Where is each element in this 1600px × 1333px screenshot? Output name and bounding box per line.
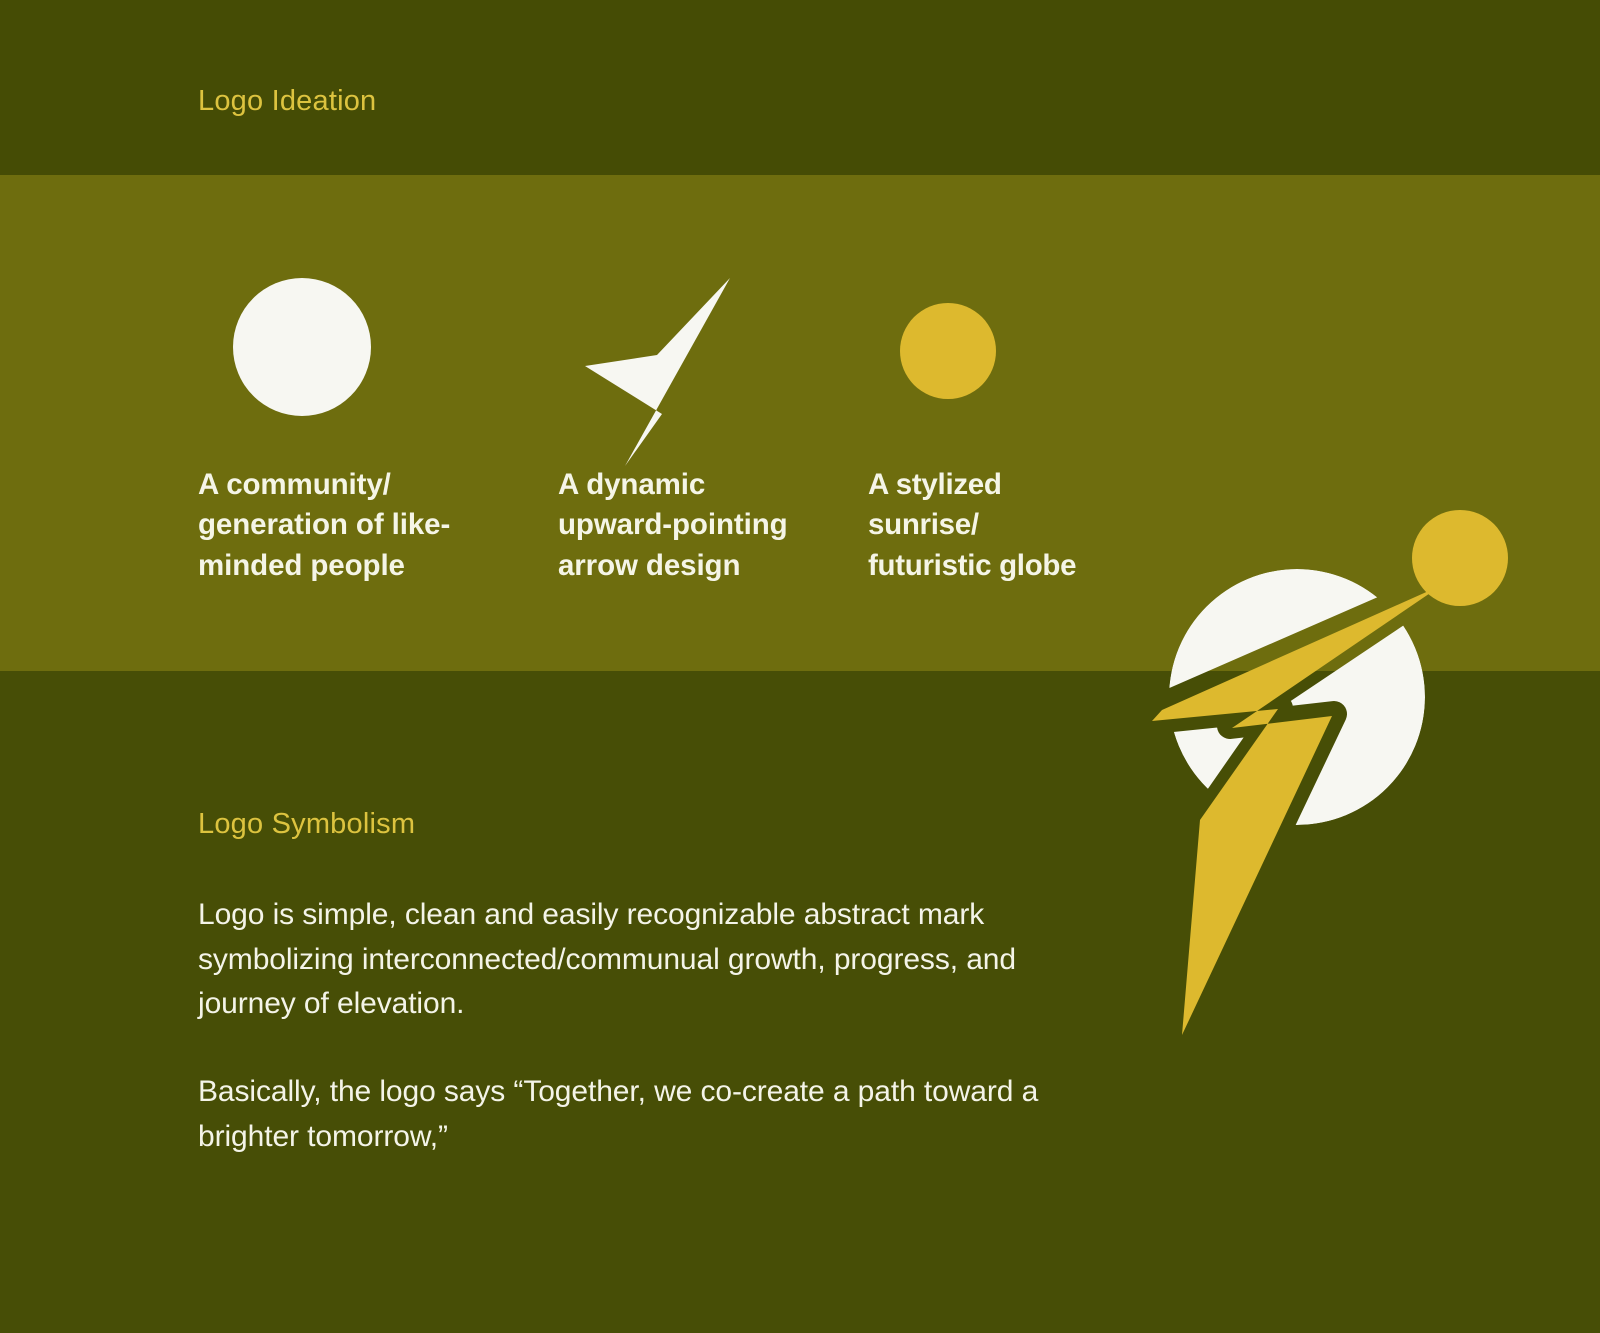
- ideation-column-sunrise: A stylized sunrise/ futuristic globe: [868, 175, 1148, 671]
- white-circle-icon: [233, 278, 371, 416]
- ideation-caption-arrow: A dynamic upward-pointing arrow design: [558, 465, 788, 586]
- ideation-caption-community: A community/ generation of like- minded …: [198, 465, 450, 586]
- symbolism-paragraph-2: Basically, the logo says “Together, we c…: [198, 1070, 1068, 1159]
- symbolism-paragraph-1: Logo is simple, clean and easily recogni…: [198, 893, 1068, 1027]
- ideation-art-community: [198, 270, 498, 470]
- ideation-art-arrow: [558, 270, 858, 470]
- ideation-column-community: A community/ generation of like- minded …: [198, 175, 498, 671]
- ideation-column-arrow: A dynamic upward-pointing arrow design: [558, 175, 858, 671]
- logo-symbolism-heading: Logo Symbolism: [198, 808, 415, 841]
- logo-symbolism-body: Logo is simple, clean and easily recogni…: [198, 893, 1068, 1159]
- logo-ideation-heading: Logo Ideation: [198, 85, 376, 118]
- slide-canvas: Logo Ideation A community/ generation of…: [0, 0, 1600, 1333]
- gold-sun-circle: [1412, 510, 1508, 606]
- composite-brand-logo: [1120, 490, 1540, 1050]
- gold-circle-icon: [900, 303, 996, 399]
- upward-arrow-icon: [558, 180, 858, 470]
- ideation-caption-sunrise: A stylized sunrise/ futuristic globe: [868, 465, 1076, 586]
- ideation-art-sunrise: [868, 270, 1168, 470]
